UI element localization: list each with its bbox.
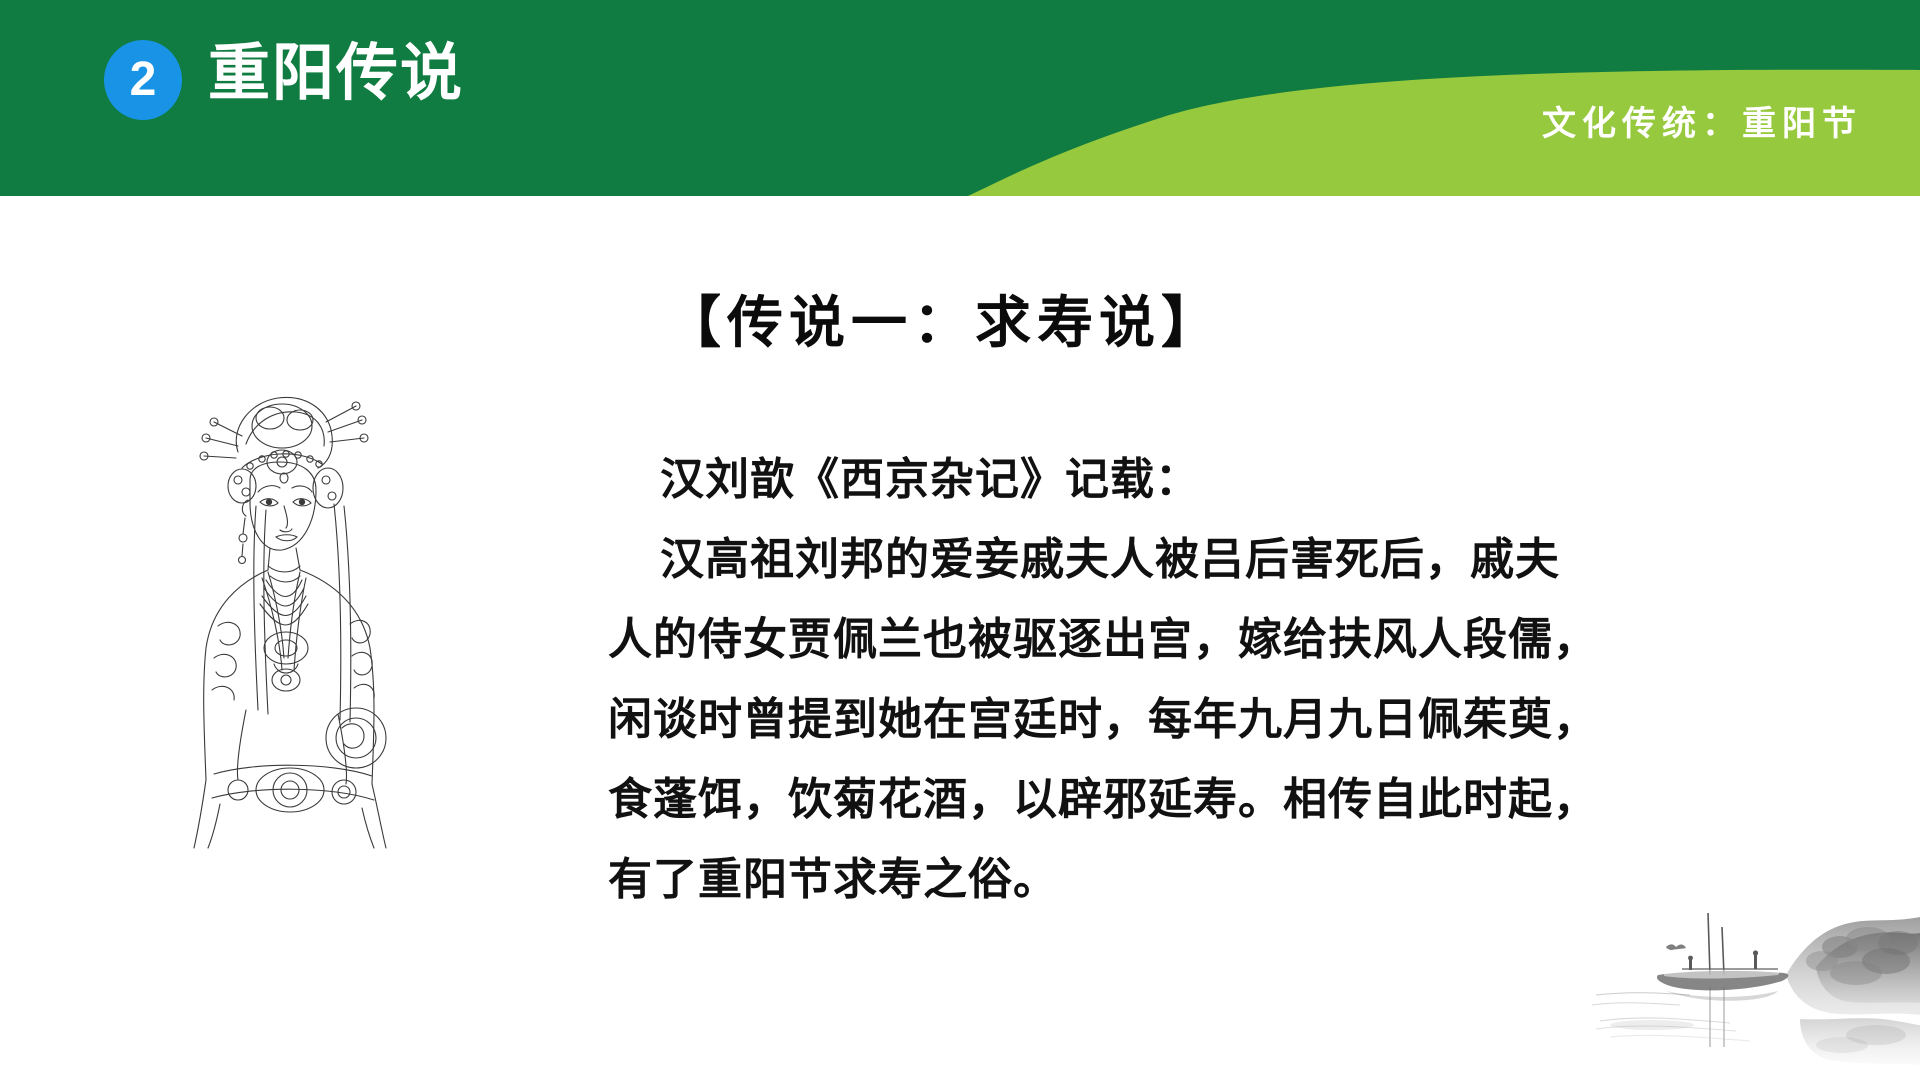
slide-canvas: 2 重阳传说 文化传统：重阳节 【传说一：求寿说】 汉刘歆《西京杂记》记载： 汉… — [0, 0, 1920, 1080]
body-line: 有了重阳节求寿之俗。 — [608, 840, 1608, 920]
slide-header: 2 重阳传说 文化传统：重阳节 — [0, 0, 1920, 196]
section-number-badge: 2 — [104, 40, 182, 120]
body-line: 食蓬饵，饮菊花酒，以辟邪延寿。相传自此时起， — [608, 760, 1608, 840]
page-title: 重阳传说 — [208, 37, 464, 111]
body-line: 汉刘歆《西京杂记》记载： — [608, 440, 1608, 520]
ink-wash-landscape-illustration — [1590, 895, 1920, 1080]
legend-body-text: 汉刘歆《西京杂记》记载： 汉高祖刘邦的爱妾戚夫人被吕后害死后，戚夫 人的侍女贾佩… — [608, 440, 1608, 920]
section-number-label: 2 — [130, 56, 157, 104]
header-subject-label: 文化传统：重阳节 — [1542, 96, 1862, 145]
chinese-court-lady-illustration — [150, 380, 400, 850]
body-line: 人的侍女贾佩兰也被驱逐出宫，嫁给扶风人段儒， — [608, 600, 1608, 680]
body-line: 汉高祖刘邦的爱妾戚夫人被吕后害死后，戚夫 — [608, 520, 1608, 600]
legend-heading: 【传说一：求寿说】 — [665, 278, 1223, 359]
body-line: 闲谈时曾提到她在宫廷时，每年九月九日佩茱萸， — [608, 680, 1608, 760]
